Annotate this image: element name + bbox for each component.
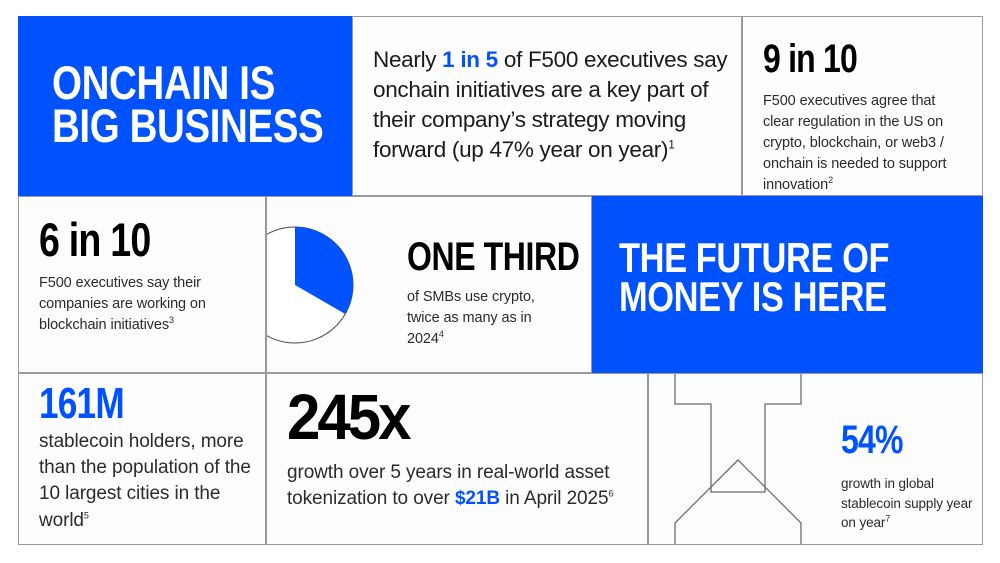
future-of-money-title: THE FUTURE OF MONEY IS HERE (619, 239, 889, 316)
body-tokenization-accent: $21B (455, 488, 500, 509)
stat-one-third: ONE THIRD (407, 237, 579, 277)
stat-nine-in-ten: 9 in 10 (763, 39, 857, 79)
footnote-marker-4: 4 (439, 329, 444, 339)
lede-accent-stat: 1 in 5 (442, 47, 498, 72)
footnote-marker-5: 5 (84, 510, 89, 520)
panel-f500-strategy: Nearly 1 in 5 of F500 executives say onc… (352, 16, 742, 196)
stat-161m: 161M (39, 382, 124, 426)
stat-six-in-ten: 6 in 10 (39, 216, 150, 263)
hero-title-line2: BIG BUSINESS (52, 99, 323, 152)
body-nine-in-ten: F500 executives agree that clear regulat… (763, 91, 968, 196)
lede-pre: Nearly (373, 47, 442, 72)
body-six-in-ten: F500 executives say their companies are … (39, 273, 249, 336)
footnote-marker-3: 3 (169, 315, 174, 325)
panel-future-of-money: THE FUTURE OF MONEY IS HERE (592, 196, 983, 373)
body-one-third: of SMBs use crypto, twice as many as in … (407, 287, 557, 350)
stat-54-percent: 54% (841, 420, 903, 460)
footnote-marker-7: 7 (885, 514, 890, 524)
panel-nine-in-ten: 9 in 10 F500 executives agree that clear… (742, 16, 983, 196)
panel-six-in-ten: 6 in 10 F500 executives say their compan… (18, 196, 266, 373)
body-stablecoin-supply-text: growth in global stablecoin supply year … (841, 476, 972, 530)
panel-onchain-is-big-business: ONCHAIN IS BIG BUSINESS (18, 16, 352, 196)
pie-chart-one-third-icon (266, 220, 360, 350)
body-stablecoin-holders-text: stablecoin holders, more than the popula… (39, 431, 251, 531)
body-stablecoin-supply: growth in global stablecoin supply year … (841, 474, 981, 533)
body-nine-in-ten-text: F500 executives agree that clear regulat… (763, 93, 946, 193)
body-six-in-ten-text: F500 executives say their companies are … (39, 275, 206, 333)
body-one-third-text: of SMBs use crypto, twice as many as in … (407, 289, 535, 347)
stat-245x: 245x (287, 386, 408, 450)
body-tokenization-growth: growth over 5 years in real-world asset … (287, 460, 635, 512)
body-tokenization-post: in April 2025 (500, 488, 608, 509)
lede-paragraph: Nearly 1 in 5 of F500 executives say onc… (373, 45, 733, 165)
footnote-marker-6: 6 (608, 489, 613, 499)
hero-title: ONCHAIN IS BIG BUSINESS (52, 61, 323, 147)
footnote-marker-1: 1 (668, 137, 674, 151)
footnote-marker-2: 2 (828, 175, 833, 185)
future-title-line2: MONEY IS HERE (619, 273, 887, 320)
panel-one-third: ONE THIRD of SMBs use crypto, twice as m… (266, 196, 592, 373)
panel-stablecoin-holders: 161M stablecoin holders, more than the p… (18, 373, 266, 545)
panel-stablecoin-supply: 54% growth in global stablecoin supply y… (648, 373, 983, 545)
infographic-canvas: ONCHAIN IS BIG BUSINESS Nearly 1 in 5 of… (0, 0, 1000, 563)
body-stablecoin-holders: stablecoin holders, more than the popula… (39, 429, 254, 534)
up-arrows-icon (653, 373, 823, 545)
panel-tokenization-growth: 245x growth over 5 years in real-world a… (266, 373, 648, 545)
